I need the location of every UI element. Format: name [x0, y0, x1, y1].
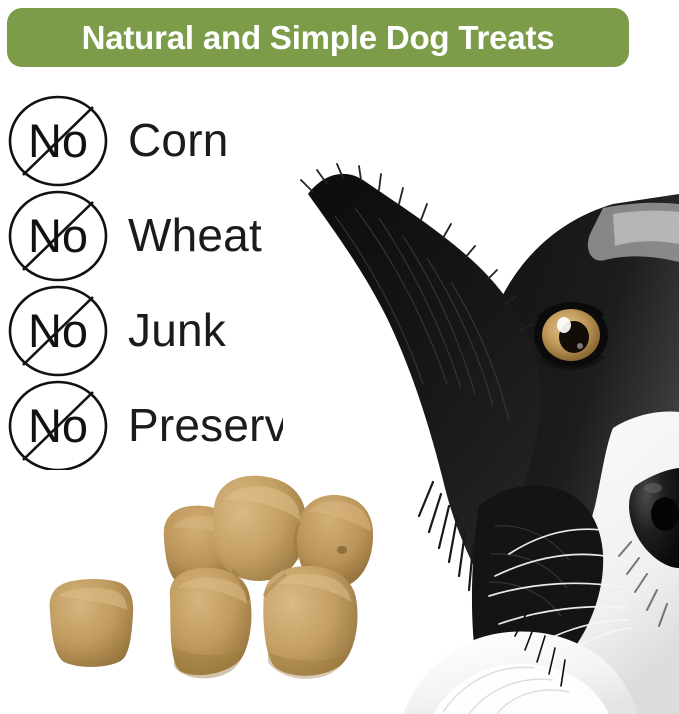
no-prohibition-icon: No [6, 380, 110, 472]
svg-text:No: No [28, 209, 88, 262]
treats-group [28, 470, 373, 685]
svg-text:No: No [28, 304, 88, 357]
page-title: Natural and Simple Dog Treats [82, 21, 555, 54]
claim-label: Wheat [128, 187, 262, 282]
claim-label: Corn [128, 92, 229, 187]
no-prohibition-icon: No [6, 285, 110, 377]
header-banner: Natural and Simple Dog Treats [7, 8, 629, 67]
no-prohibition-icon: No [6, 190, 110, 282]
no-prohibition-icon: No [6, 95, 110, 187]
product-infographic: Natural and Simple Dog Treats No Corn No [0, 0, 679, 714]
svg-text:No: No [28, 399, 88, 452]
svg-text:No: No [28, 114, 88, 167]
claim-label: Junk [128, 282, 226, 377]
